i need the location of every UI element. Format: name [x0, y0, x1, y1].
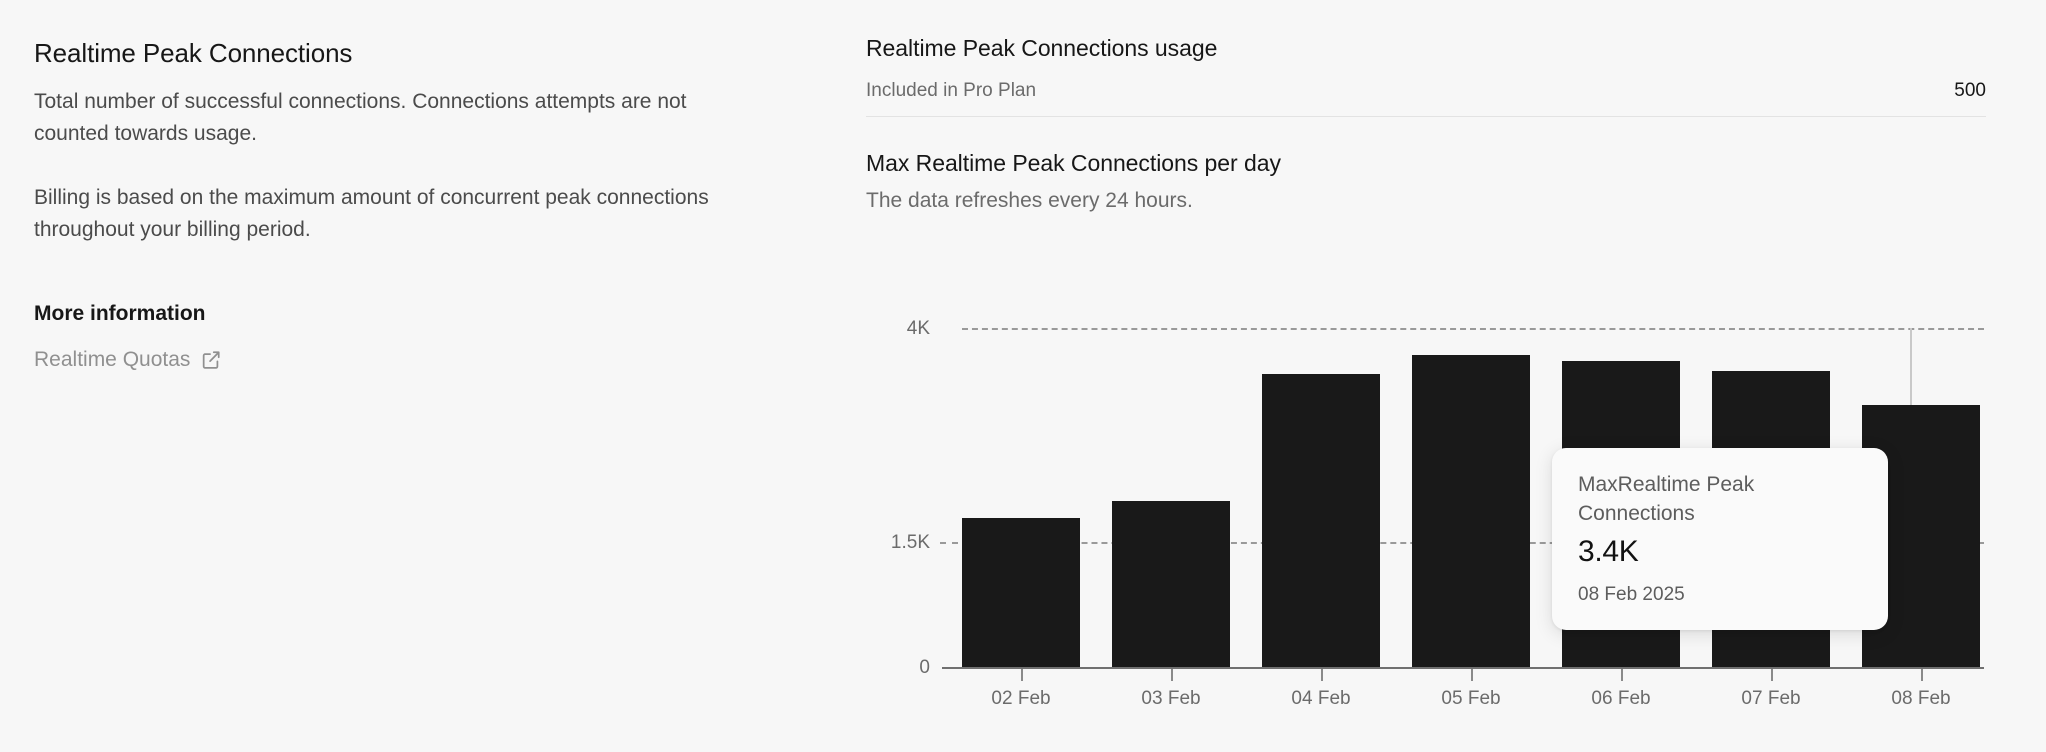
chart-tooltip: MaxRealtime Peak Connections 3.4K 08 Feb… [1552, 448, 1888, 630]
tooltip-date: 08 Feb 2025 [1578, 582, 1864, 608]
x-axis-tick [1171, 669, 1173, 681]
tooltip-series-label: MaxRealtime Peak Connections [1578, 470, 1864, 528]
x-axis-label: 03 Feb [1141, 688, 1200, 710]
x-axis-tick [1021, 669, 1023, 681]
x-axis-tick [1621, 669, 1623, 681]
realtime-quotas-link[interactable]: Realtime Quotas [34, 346, 222, 374]
more-information-heading: More information [34, 300, 764, 328]
y-axis-label-1-5k: 1.5K [891, 533, 930, 552]
x-axis-label: 08 Feb [1891, 688, 1950, 710]
description-paragraph-2: Billing is based on the maximum amount o… [34, 182, 724, 246]
x-axis-tick [1921, 669, 1923, 681]
chart-hover-line [1910, 328, 1912, 405]
x-axis-label: 06 Feb [1591, 688, 1650, 710]
usage-page: Realtime Peak Connections Total number o… [0, 0, 2046, 752]
tooltip-value: 3.4K [1578, 532, 1864, 572]
usage-panel: Realtime Peak Connections usage Included… [866, 0, 1988, 752]
realtime-quotas-link-label: Realtime Quotas [34, 346, 190, 374]
y-axis-label-4k: 4K [907, 319, 930, 338]
description-paragraph-1: Total number of successful connections. … [34, 86, 724, 150]
x-axis-label: 05 Feb [1441, 688, 1500, 710]
x-axis-tick [1771, 669, 1773, 681]
chart-title: Max Realtime Peak Connections per day [866, 148, 1281, 178]
x-axis-label: 04 Feb [1291, 688, 1350, 710]
chart-bar[interactable] [1112, 501, 1230, 667]
y-axis-label-0: 0 [919, 658, 930, 677]
usage-section-title: Realtime Peak Connections usage [866, 33, 1217, 63]
description-panel: Realtime Peak Connections Total number o… [34, 36, 764, 374]
gridline-tick-1-5k [940, 542, 958, 544]
usage-plan-label: Included in Pro Plan [866, 78, 1036, 104]
x-axis-line [942, 667, 1984, 669]
x-axis-tick [1471, 669, 1473, 681]
usage-summary-row: Included in Pro Plan 500 [866, 78, 1986, 117]
chart-bar[interactable] [1262, 374, 1380, 667]
usage-plan-value: 500 [1954, 78, 1986, 104]
x-axis-tick [1321, 669, 1323, 681]
chart-subtitle: The data refreshes every 24 hours. [866, 187, 1193, 215]
x-axis-label: 07 Feb [1741, 688, 1800, 710]
chart-bar[interactable] [962, 518, 1080, 667]
chart-bar[interactable] [1412, 355, 1530, 667]
x-axis-label: 02 Feb [991, 688, 1050, 710]
external-link-icon [200, 349, 222, 371]
page-title: Realtime Peak Connections [34, 36, 764, 70]
